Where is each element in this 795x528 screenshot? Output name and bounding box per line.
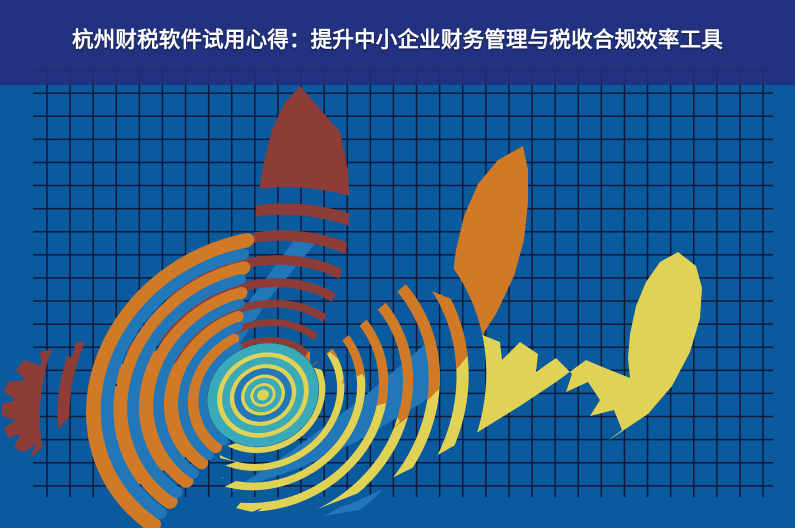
- poster-canvas: 杭州财税软件试用心得：提升中小企业财务管理与税收合规效率工具: [0, 0, 795, 528]
- title-banner: 杭州财税软件试用心得：提升中小企业财务管理与税收合规效率工具: [0, 0, 795, 85]
- page-title: 杭州财税软件试用心得：提升中小企业财务管理与税收合规效率工具: [33, 26, 763, 54]
